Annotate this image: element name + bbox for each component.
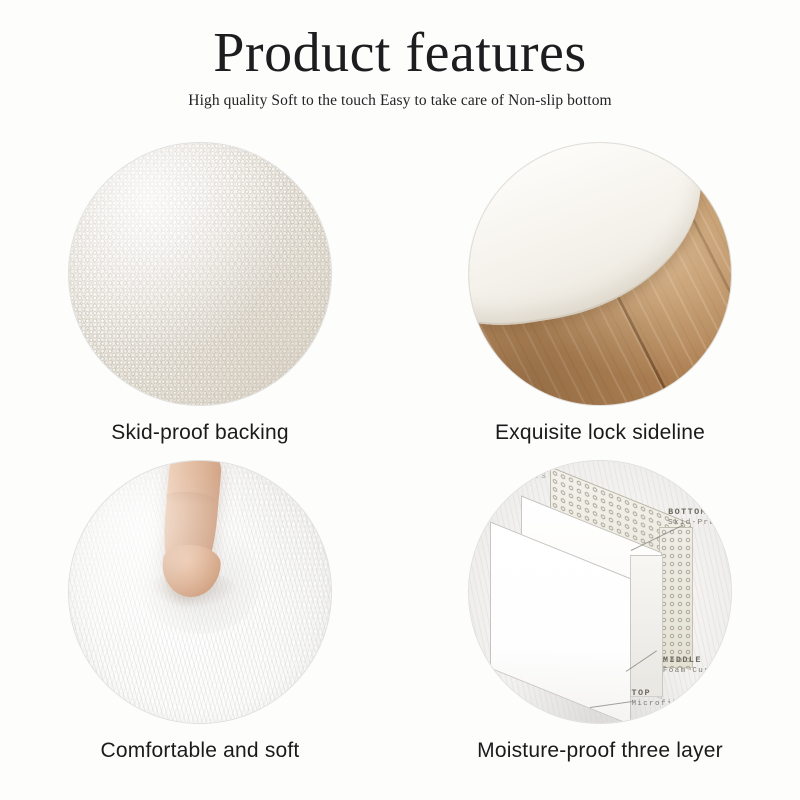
page-title: Product features	[0, 22, 800, 84]
layer-label-top-title: TOP	[631, 688, 702, 699]
mat-on-wood-floor-photo	[469, 143, 731, 405]
feature-image-skid-proof-backing	[69, 143, 331, 405]
features-grid: Skid-proof backing Exquisite lock sideli…	[0, 133, 800, 793]
feature-card-exquisite-lock-sideline[interactable]: Exquisite lock sideline	[400, 133, 800, 453]
feature-card-comfortable-and-soft[interactable]: Comfortable and soft	[0, 455, 400, 775]
feature-caption-comfortable-and-soft: Comfortable and soft	[0, 737, 400, 765]
feature-card-skid-proof-backing[interactable]: Skid-proof backing	[0, 133, 400, 453]
mesh-texture-photo	[69, 143, 331, 405]
layer-sheet-middle-side	[630, 555, 663, 696]
feature-caption-moisture-proof-three-layer: Moisture-proof three layer	[400, 737, 800, 765]
feature-card-moisture-proof-three-layer[interactable]: roducts BOTTOM Skid-Proof MIDDLE Foam Cu…	[400, 455, 800, 775]
layer-label-middle-title: MIDDLE	[663, 655, 716, 666]
page-subtitle: High quality Soft to the touch Easy to t…	[0, 90, 800, 112]
feature-image-exquisite-lock-sideline	[469, 143, 731, 405]
layer-label-bottom: BOTTOM Skid-Proof	[668, 507, 727, 529]
finger-press-plush-photo	[69, 461, 331, 723]
page-header: Product features High quality Soft to th…	[0, 0, 800, 112]
layer-label-middle: MIDDLE Foam Cush	[663, 655, 716, 677]
plush-shading-layer	[69, 461, 331, 723]
layer-label-bottom-title: BOTTOM	[668, 507, 727, 518]
feature-image-comfortable-and-soft	[69, 461, 331, 723]
feature-caption-exquisite-lock-sideline: Exquisite lock sideline	[400, 419, 800, 447]
layer-sheet-bottom-side	[659, 527, 693, 668]
three-layer-diagram-photo: roducts BOTTOM Skid-Proof MIDDLE Foam Cu…	[469, 461, 731, 723]
feature-caption-skid-proof-backing: Skid-proof backing	[0, 419, 400, 447]
layer-label-bottom-subtitle: Skid-Proof	[668, 518, 727, 529]
layer-label-top-subtitle: Microfiber S	[631, 699, 702, 710]
mesh-shading-layer	[69, 143, 331, 405]
products-watermark-text: roducts	[495, 471, 548, 481]
layer-label-top: TOP Microfiber S	[631, 688, 702, 710]
layer-label-middle-subtitle: Foam Cush	[663, 666, 716, 677]
feature-image-moisture-proof-three-layer: roducts BOTTOM Skid-Proof MIDDLE Foam Cu…	[469, 461, 731, 723]
